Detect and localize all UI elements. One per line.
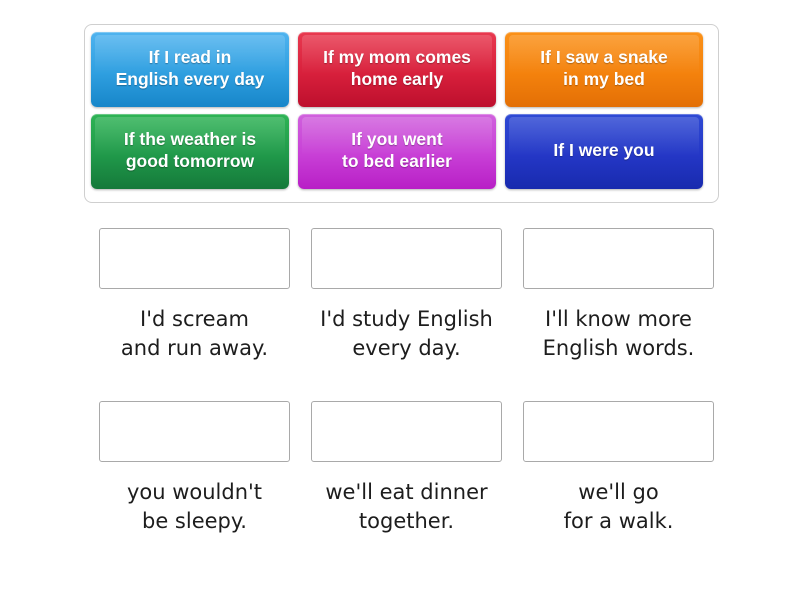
- draggable-tile[interactable]: If my mom comes home early: [298, 32, 496, 107]
- tile-label: If I saw a snake in my bed: [540, 46, 667, 91]
- drop-zone[interactable]: [311, 401, 502, 462]
- draggable-tile[interactable]: If the weather is good tomorrow: [91, 114, 289, 189]
- tile-label: If I were you: [553, 139, 654, 161]
- answer-cell: you wouldn't be sleepy.: [99, 401, 290, 536]
- tile-label: If my mom comes home early: [323, 46, 471, 91]
- answer-row: you wouldn't be sleepy. we'll eat dinner…: [99, 401, 715, 536]
- answer-label: we'll eat dinner together.: [325, 478, 487, 536]
- draggable-tile[interactable]: If you went to bed earlier: [298, 114, 496, 189]
- draggable-tile[interactable]: If I saw a snake in my bed: [505, 32, 703, 107]
- answer-label: I'd study English every day.: [320, 305, 493, 363]
- answer-row: I'd scream and run away. I'd study Engli…: [99, 228, 715, 363]
- draggable-tile-tray: If I read in English every day If my mom…: [84, 24, 719, 203]
- tile-label: If the weather is good tomorrow: [124, 128, 256, 173]
- answer-label: you wouldn't be sleepy.: [127, 478, 262, 536]
- answer-label: we'll go for a walk.: [564, 478, 674, 536]
- drop-zone[interactable]: [523, 228, 714, 289]
- answer-cell: I'd study English every day.: [311, 228, 502, 363]
- draggable-tile[interactable]: If I were you: [505, 114, 703, 189]
- answer-cell: I'd scream and run away.: [99, 228, 290, 363]
- answer-cell: we'll eat dinner together.: [311, 401, 502, 536]
- answer-grid: I'd scream and run away. I'd study Engli…: [99, 228, 715, 574]
- draggable-tile[interactable]: If I read in English every day: [91, 32, 289, 107]
- answer-cell: we'll go for a walk.: [523, 401, 714, 536]
- answer-label: I'll know more English words.: [543, 305, 695, 363]
- drop-zone[interactable]: [99, 228, 290, 289]
- answer-label: I'd scream and run away.: [121, 305, 268, 363]
- answer-cell: I'll know more English words.: [523, 228, 714, 363]
- drop-zone[interactable]: [523, 401, 714, 462]
- drop-zone[interactable]: [311, 228, 502, 289]
- tile-label: If you went to bed earlier: [342, 128, 452, 173]
- drop-zone[interactable]: [99, 401, 290, 462]
- tile-label: If I read in English every day: [116, 46, 265, 91]
